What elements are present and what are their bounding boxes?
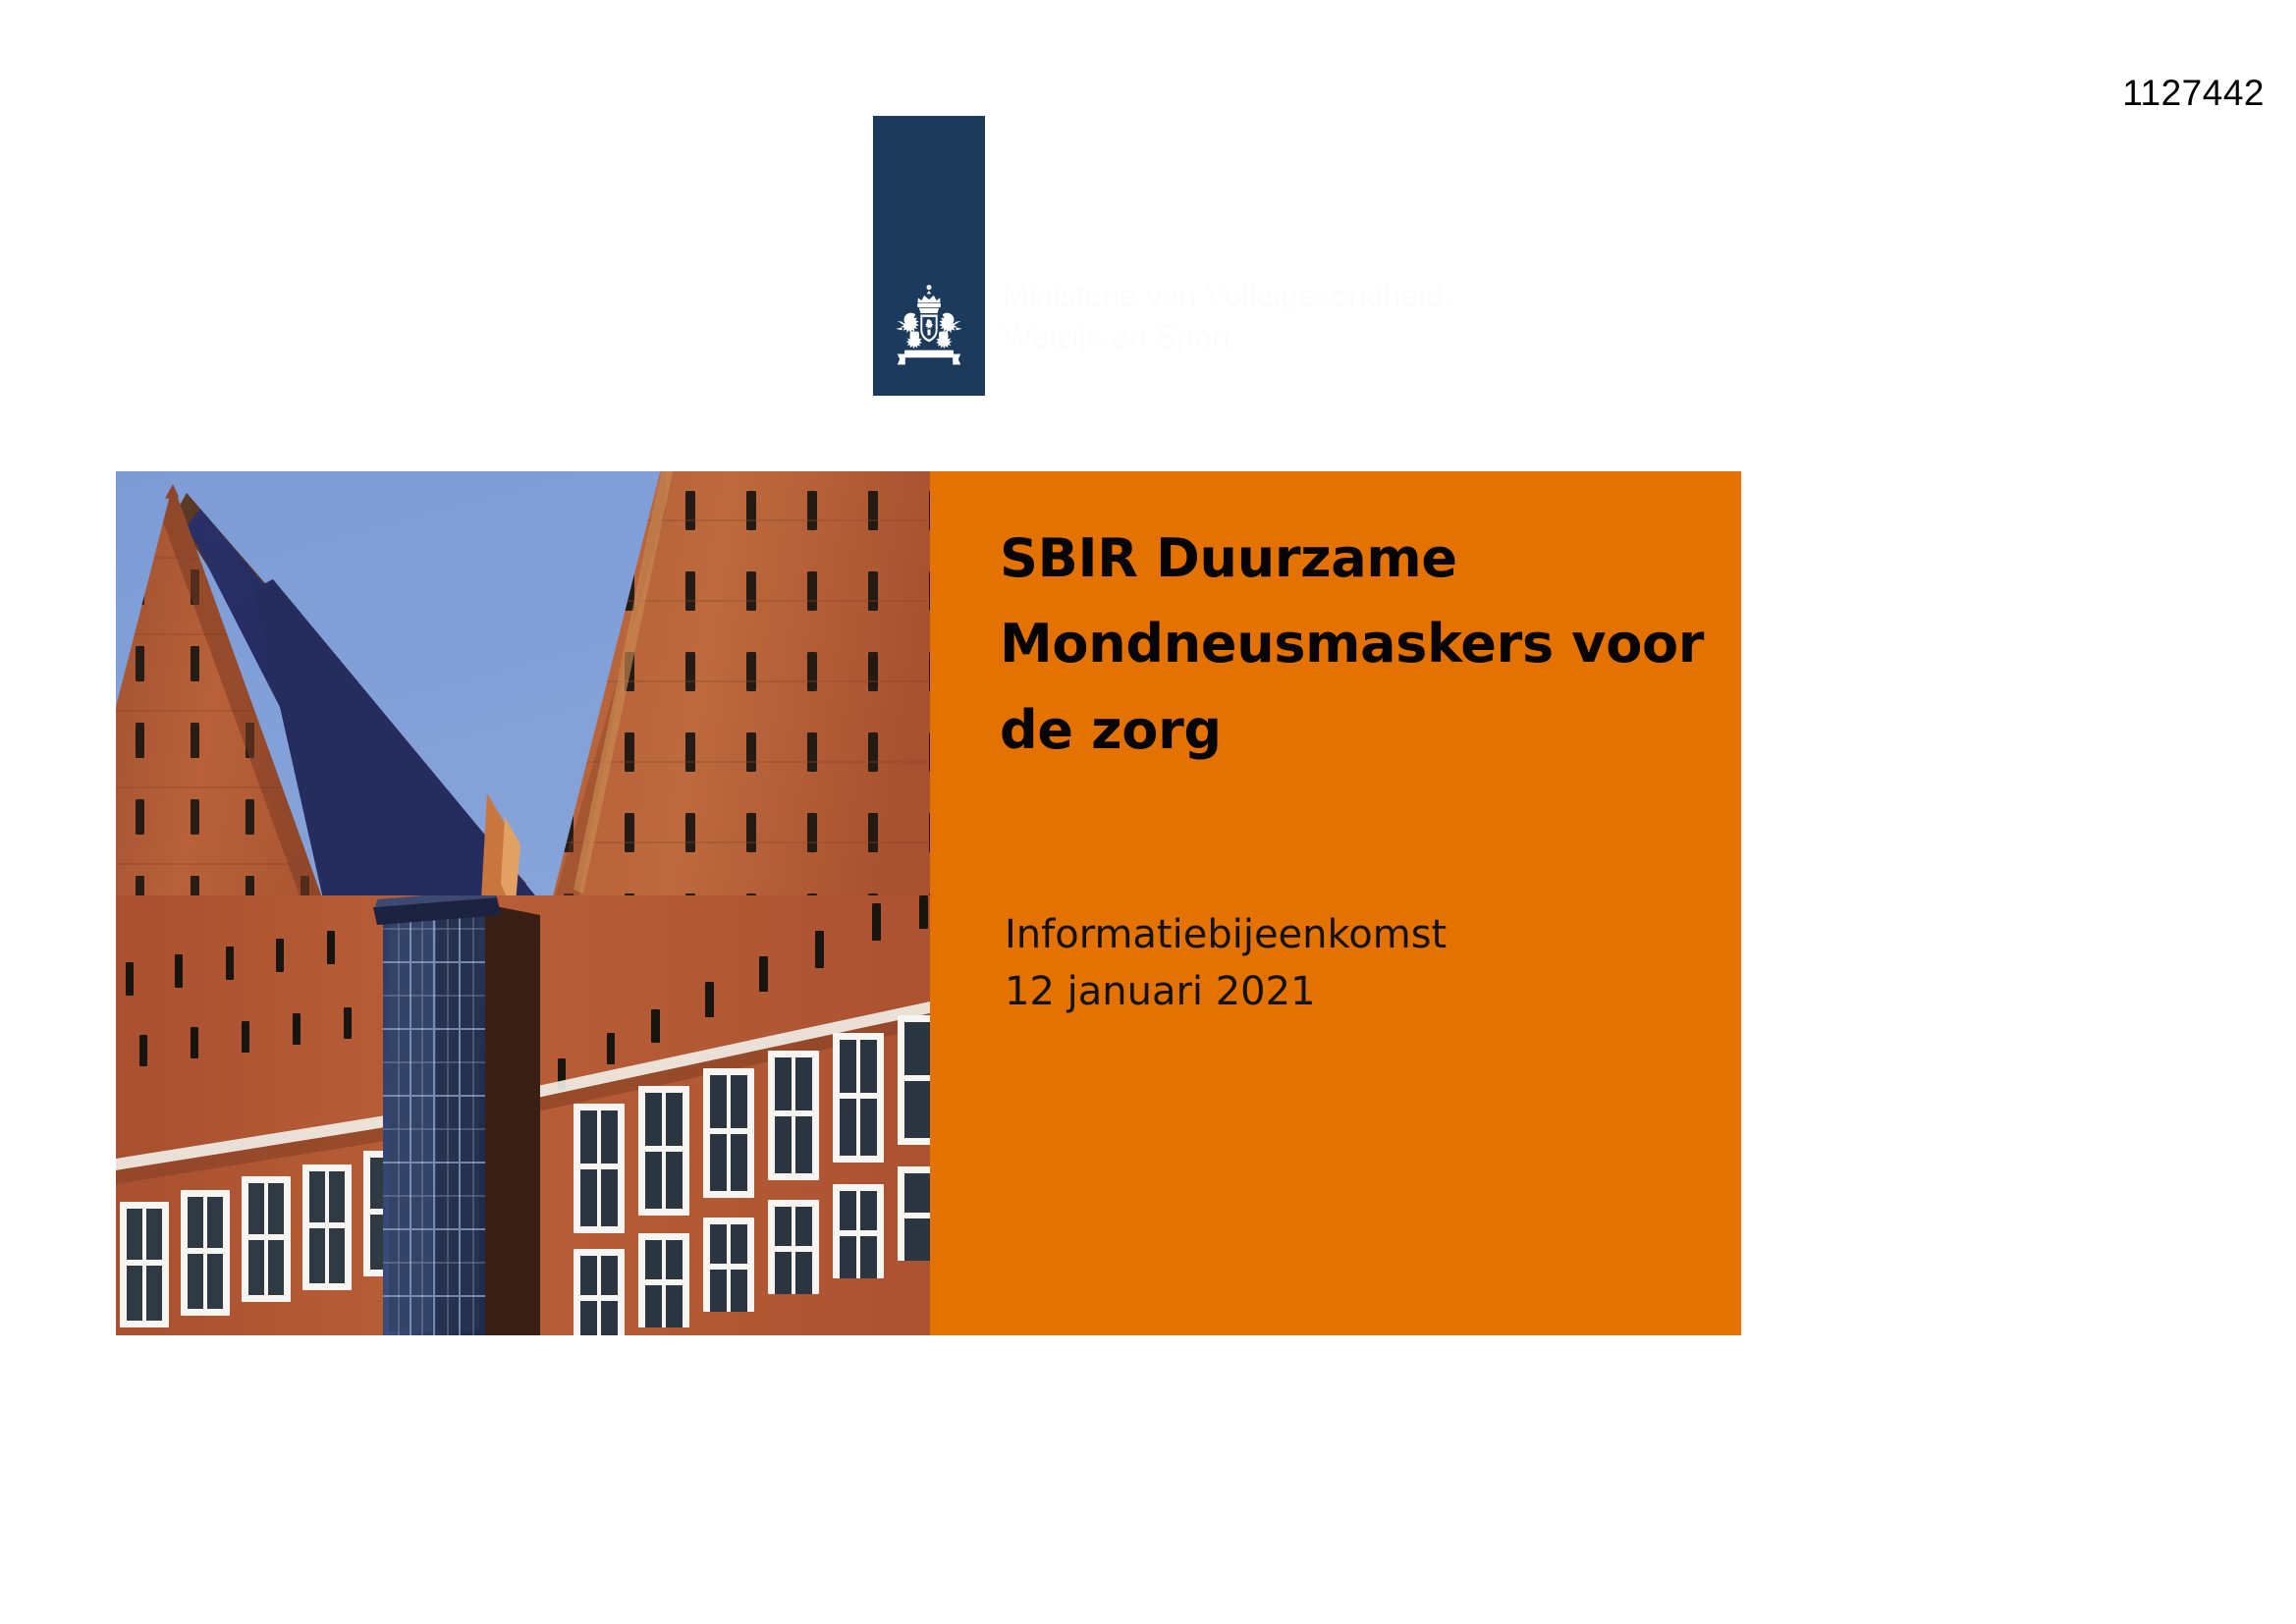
page-number: 1127442 xyxy=(2122,75,2265,111)
building-photo xyxy=(116,471,930,1335)
page-title: SBIR Duurzame Mondneusmaskers voor de zo… xyxy=(1000,515,1707,773)
government-logo: Ministerie van Volksgezondheid, Welzijn … xyxy=(873,116,1482,396)
logo-wordmark: Ministerie van Volksgezondheid, Welzijn … xyxy=(1003,275,1474,357)
title-panel: SBIR Duurzame Mondneusmaskers voor de zo… xyxy=(930,471,1741,1335)
event-subtitle: Informatiebijeenkomst 12 januari 2021 xyxy=(1005,906,1712,1020)
logo-navy-bar xyxy=(873,116,985,396)
netherlands-coat-of-arms-icon xyxy=(882,280,976,374)
